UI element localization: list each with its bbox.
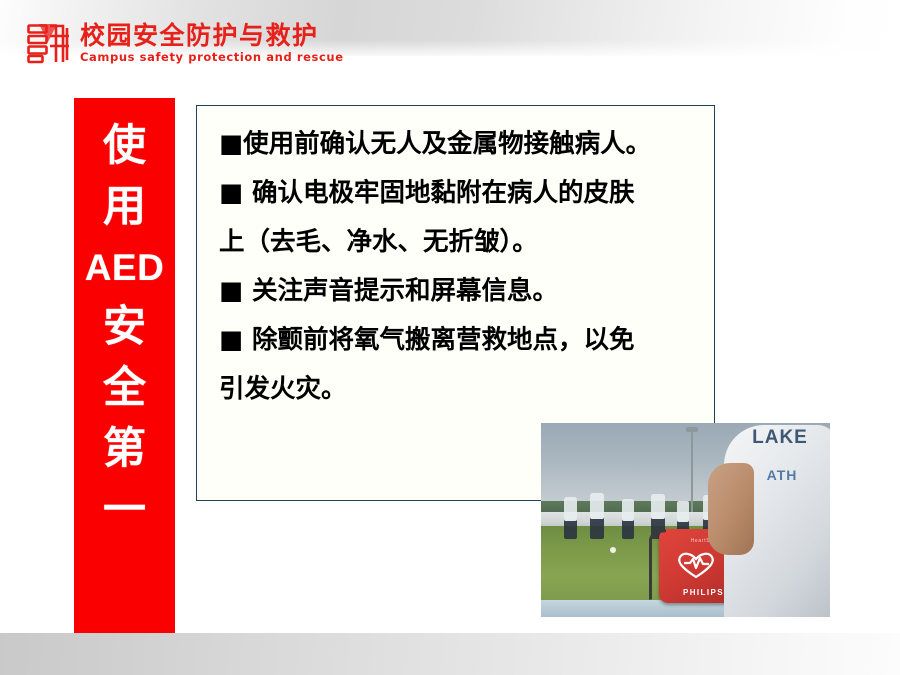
photo-light-pole — [691, 427, 693, 512]
brand-title-en: Campus safety protection and rescue — [80, 51, 344, 65]
bottom-decorative-band — [0, 633, 900, 675]
bullet-4-line-2: 引发火灾。 — [219, 365, 704, 414]
brand-text: 校园安全防护与救护 Campus safety protection and r… — [80, 23, 344, 64]
bullet-2-line-2: 上（去毛、净水、无折皱）。 — [219, 218, 704, 267]
photo-shirt-text-top: LAKE — [728, 427, 830, 449]
photo-player-torso — [622, 499, 634, 521]
vertical-title-bar: 使 用 AED 安 全 第 一 — [74, 98, 175, 634]
photo-player — [590, 493, 604, 539]
photo-player-torso — [590, 493, 604, 518]
title-char-7: 一 — [103, 480, 146, 541]
photo-foreground-student: LAKE ATH — [708, 423, 830, 617]
title-char-2: 用 — [103, 177, 146, 238]
slide-canvas: 校园安全防护与救护 Campus safety protection and r… — [0, 0, 900, 675]
photo-player — [564, 497, 577, 539]
title-char-5: 全 — [103, 358, 146, 419]
title-char-4: 安 — [103, 297, 146, 358]
bullet-2-line-1: ■ 确认电极牢固地黏附在病人的皮肤 — [219, 169, 704, 218]
brand-logo: 校园安全防护与救护 Campus safety protection and r… — [26, 22, 344, 66]
bullet-3-line-1: ■ 关注声音提示和屏幕信息。 — [219, 267, 704, 316]
title-char-3: AED — [85, 238, 165, 297]
photo-student-arm — [708, 463, 754, 555]
title-char-6: 第 — [103, 419, 146, 480]
bullet-4-line-1: ■ 除颤前将氧气搬离营救地点，以免 — [219, 316, 704, 365]
photo-player — [622, 499, 634, 539]
photo-player-torso — [651, 494, 665, 519]
photo-player-torso — [677, 501, 689, 522]
campus-safety-seal-icon — [26, 22, 72, 66]
aed-on-sports-field-photo: HeartStart PHILIPS LAKE ATH — [541, 423, 830, 617]
title-char-1: 使 — [103, 116, 146, 177]
bullet-1-line-1: ■使用前确认无人及金属物接触病人。 — [219, 120, 704, 169]
brand-title-cn: 校园安全防护与救护 — [80, 23, 344, 49]
photo-player-torso — [564, 497, 577, 520]
